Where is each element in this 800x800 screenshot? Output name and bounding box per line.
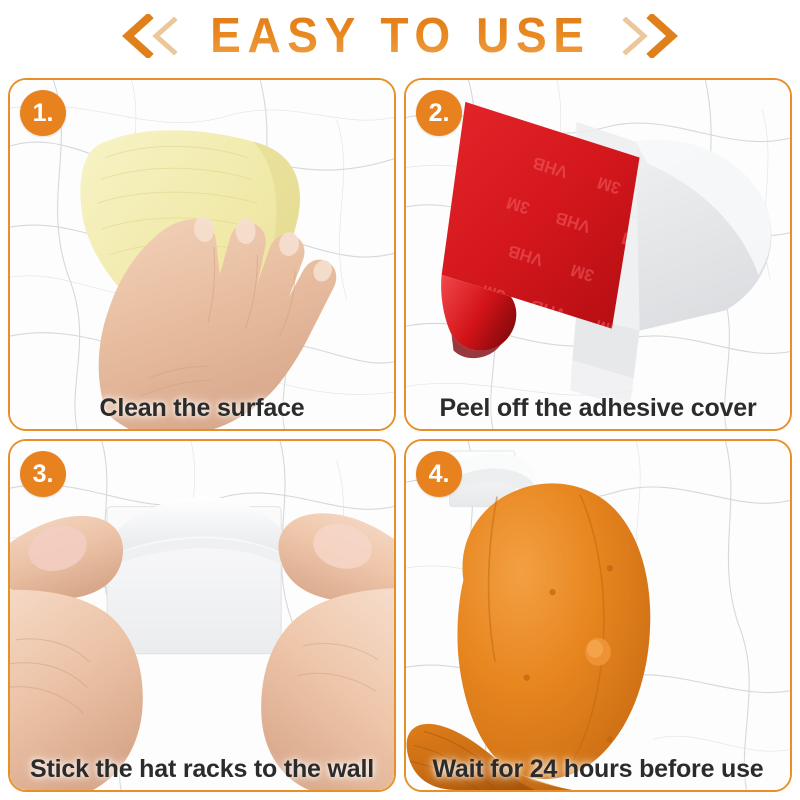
step-badge-3: 3. [20, 451, 66, 497]
infographic-page: EASY TO USE [0, 0, 800, 800]
step-panel-1: 1. Clean the surface [8, 78, 396, 431]
step-badge-2: 2. [416, 90, 462, 136]
step-panel-4: 4. Wait for 24 hours before use [404, 439, 792, 792]
scene-clean-surface [10, 80, 394, 429]
scene-peel-adhesive: 3M VHB 3M VHB 3M VHB 3M VHB 3M VHB 3M [406, 80, 790, 429]
step-badge-4: 4. [416, 451, 462, 497]
step-caption-2: Peel off the adhesive cover [406, 394, 790, 423]
page-title: EASY TO USE [210, 12, 590, 61]
orange-baseball-cap [407, 483, 651, 790]
step-caption-1: Clean the surface [10, 394, 394, 423]
scene-stick-hook [10, 441, 394, 790]
double-chevron-right-icon [620, 14, 682, 58]
steps-grid: 1. Clean the surface [8, 78, 792, 792]
right-hand-shape [261, 513, 394, 790]
scene-cap-on-hook [406, 441, 790, 790]
step-caption-3: Stick the hat racks to the wall [10, 755, 394, 784]
step-caption-4: Wait for 24 hours before use [406, 755, 790, 784]
step-badge-1: 1. [20, 90, 66, 136]
header-banner: EASY TO USE [0, 0, 800, 72]
double-chevron-left-icon [118, 14, 180, 58]
step-panel-2: 3M VHB 3M VHB 3M VHB 3M VHB 3M VHB 3M [404, 78, 792, 431]
step-panel-3: 3. Stick the hat racks to the wall [8, 439, 396, 792]
